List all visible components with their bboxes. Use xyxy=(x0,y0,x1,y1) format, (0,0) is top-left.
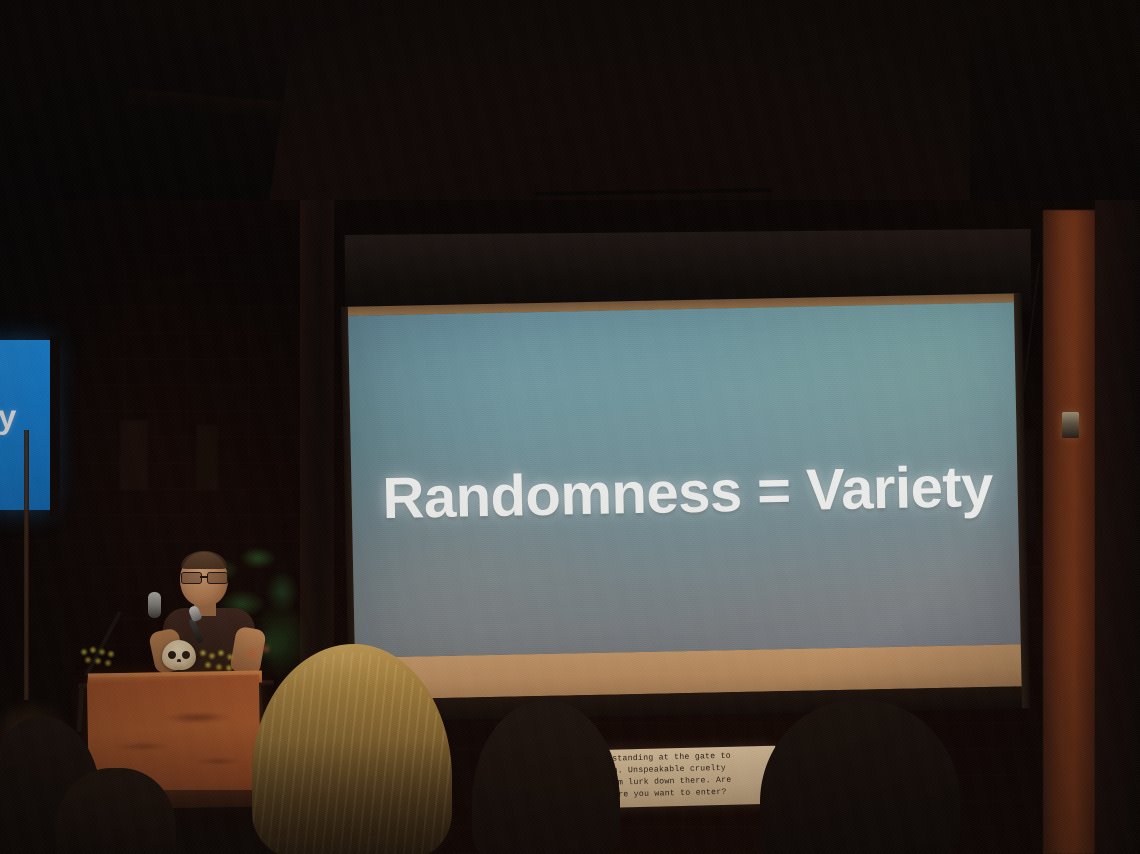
glasses-lens-left xyxy=(181,572,202,584)
secondary-display-frame xyxy=(50,336,60,516)
stage-pole xyxy=(24,430,29,700)
skull-jaw xyxy=(173,662,185,670)
glasses-lens-right xyxy=(207,572,228,584)
microphone-stand-head xyxy=(148,592,161,618)
conference-photo-scene: ty Randomness = Variety xyxy=(0,0,1140,854)
audience-hair-shadow xyxy=(252,740,452,854)
skull-eye-left xyxy=(168,651,176,659)
skull-prop xyxy=(162,640,196,670)
corn-cob-decoration-left xyxy=(78,646,120,672)
skull-eye-right xyxy=(182,651,190,659)
decorative-flowers xyxy=(240,640,280,680)
secondary-display-text: ty xyxy=(0,398,36,436)
speaker-glasses xyxy=(180,572,229,582)
glasses-bridge xyxy=(200,576,207,578)
projector-screen: Randomness = Variety xyxy=(348,293,1028,726)
slide-surface: Randomness = Variety xyxy=(348,302,1027,657)
slide-title-text: Randomness = Variety xyxy=(351,452,1024,532)
